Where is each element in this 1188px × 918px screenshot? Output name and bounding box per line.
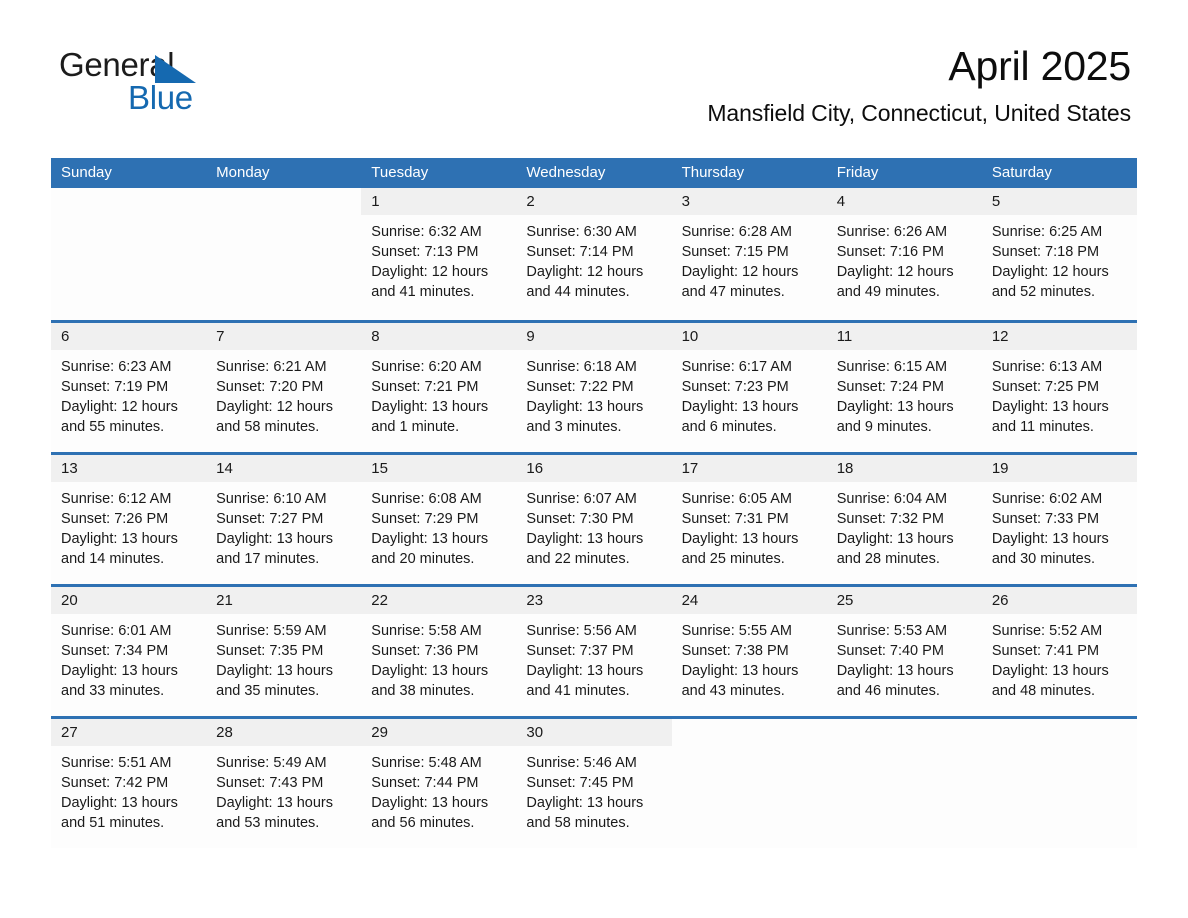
day-details: Sunrise: 6:20 AMSunset: 7:21 PMDaylight:…: [361, 350, 516, 437]
daylight-duration-line2: and 6 minutes.: [682, 417, 817, 437]
daylight-duration-line1: Daylight: 12 hours: [526, 262, 661, 282]
calendar-day-cell[interactable]: 12Sunrise: 6:13 AMSunset: 7:25 PMDayligh…: [982, 323, 1137, 452]
daylight-duration-line1: Daylight: 13 hours: [371, 529, 506, 549]
daylight-duration-line1: Daylight: 12 hours: [61, 397, 196, 417]
daylight-duration-line1: Daylight: 12 hours: [992, 262, 1127, 282]
sunset-time: Sunset: 7:27 PM: [216, 509, 351, 529]
day-number: 7: [206, 323, 361, 350]
daylight-duration-line1: Daylight: 13 hours: [526, 661, 661, 681]
sunset-time: Sunset: 7:38 PM: [682, 641, 817, 661]
calendar-day-cell[interactable]: 20Sunrise: 6:01 AMSunset: 7:34 PMDayligh…: [51, 587, 206, 716]
day-details: Sunrise: 5:51 AMSunset: 7:42 PMDaylight:…: [51, 746, 206, 833]
daylight-duration-line1: Daylight: 12 hours: [682, 262, 817, 282]
sunset-time: Sunset: 7:13 PM: [371, 242, 506, 262]
sunrise-time: Sunrise: 6:13 AM: [992, 357, 1127, 377]
calendar-day-cell[interactable]: 7Sunrise: 6:21 AMSunset: 7:20 PMDaylight…: [206, 323, 361, 452]
calendar-day-cell-empty: [206, 188, 361, 320]
day-details: Sunrise: 5:53 AMSunset: 7:40 PMDaylight:…: [827, 614, 982, 701]
sunset-time: Sunset: 7:18 PM: [992, 242, 1127, 262]
calendar-day-cell[interactable]: 21Sunrise: 5:59 AMSunset: 7:35 PMDayligh…: [206, 587, 361, 716]
sunset-time: Sunset: 7:24 PM: [837, 377, 972, 397]
title-block: April 2025 Mansfield City, Connecticut, …: [707, 45, 1131, 127]
daylight-duration-line2: and 47 minutes.: [682, 282, 817, 302]
calendar-week-row: 20Sunrise: 6:01 AMSunset: 7:34 PMDayligh…: [51, 584, 1137, 716]
sunset-time: Sunset: 7:42 PM: [61, 773, 196, 793]
daylight-duration-line1: Daylight: 12 hours: [371, 262, 506, 282]
calendar-day-cell-empty: [672, 719, 827, 848]
daylight-duration-line2: and 48 minutes.: [992, 681, 1127, 701]
day-details: Sunrise: 6:10 AMSunset: 7:27 PMDaylight:…: [206, 482, 361, 569]
sunrise-time: Sunrise: 6:15 AM: [837, 357, 972, 377]
daylight-duration-line2: and 53 minutes.: [216, 813, 351, 833]
general-blue-logo[interactable]: General Blue: [59, 48, 259, 120]
weekday-header-row: Sunday Monday Tuesday Wednesday Thursday…: [51, 158, 1137, 188]
sunrise-time: Sunrise: 5:49 AM: [216, 753, 351, 773]
calendar-day-cell[interactable]: 28Sunrise: 5:49 AMSunset: 7:43 PMDayligh…: [206, 719, 361, 848]
day-number: 23: [516, 587, 671, 614]
daylight-duration-line1: Daylight: 13 hours: [682, 397, 817, 417]
daylight-duration-line2: and 17 minutes.: [216, 549, 351, 569]
sunrise-time: Sunrise: 5:48 AM: [371, 753, 506, 773]
calendar-day-cell[interactable]: 15Sunrise: 6:08 AMSunset: 7:29 PMDayligh…: [361, 455, 516, 584]
sunset-time: Sunset: 7:22 PM: [526, 377, 661, 397]
calendar-day-cell[interactable]: 23Sunrise: 5:56 AMSunset: 7:37 PMDayligh…: [516, 587, 671, 716]
calendar-day-cell[interactable]: 26Sunrise: 5:52 AMSunset: 7:41 PMDayligh…: [982, 587, 1137, 716]
day-details: Sunrise: 6:23 AMSunset: 7:19 PMDaylight:…: [51, 350, 206, 437]
sunset-time: Sunset: 7:30 PM: [526, 509, 661, 529]
daylight-duration-line2: and 41 minutes.: [371, 282, 506, 302]
sunset-time: Sunset: 7:15 PM: [682, 242, 817, 262]
daylight-duration-line1: Daylight: 13 hours: [371, 793, 506, 813]
daylight-duration-line2: and 43 minutes.: [682, 681, 817, 701]
calendar-day-cell[interactable]: 16Sunrise: 6:07 AMSunset: 7:30 PMDayligh…: [516, 455, 671, 584]
sunset-time: Sunset: 7:25 PM: [992, 377, 1127, 397]
day-number: [51, 188, 206, 215]
sunset-time: Sunset: 7:26 PM: [61, 509, 196, 529]
sunrise-time: Sunrise: 6:01 AM: [61, 621, 196, 641]
daylight-duration-line2: and 49 minutes.: [837, 282, 972, 302]
daylight-duration-line1: Daylight: 13 hours: [992, 397, 1127, 417]
day-number: 21: [206, 587, 361, 614]
sunrise-time: Sunrise: 6:02 AM: [992, 489, 1127, 509]
daylight-duration-line2: and 52 minutes.: [992, 282, 1127, 302]
day-number: 24: [672, 587, 827, 614]
sunset-time: Sunset: 7:20 PM: [216, 377, 351, 397]
sunset-time: Sunset: 7:14 PM: [526, 242, 661, 262]
day-number: 27: [51, 719, 206, 746]
daylight-duration-line1: Daylight: 13 hours: [216, 793, 351, 813]
day-number: 6: [51, 323, 206, 350]
daylight-duration-line1: Daylight: 12 hours: [216, 397, 351, 417]
sunrise-time: Sunrise: 6:20 AM: [371, 357, 506, 377]
calendar-day-cell[interactable]: 11Sunrise: 6:15 AMSunset: 7:24 PMDayligh…: [827, 323, 982, 452]
weekday-header-saturday: Saturday: [982, 158, 1137, 188]
sunrise-time: Sunrise: 6:08 AM: [371, 489, 506, 509]
day-details: Sunrise: 6:02 AMSunset: 7:33 PMDaylight:…: [982, 482, 1137, 569]
calendar-day-cell[interactable]: 9Sunrise: 6:18 AMSunset: 7:22 PMDaylight…: [516, 323, 671, 452]
daylight-duration-line1: Daylight: 13 hours: [837, 529, 972, 549]
day-details: Sunrise: 5:48 AMSunset: 7:44 PMDaylight:…: [361, 746, 516, 833]
day-details: Sunrise: 6:04 AMSunset: 7:32 PMDaylight:…: [827, 482, 982, 569]
sunrise-time: Sunrise: 6:07 AM: [526, 489, 661, 509]
sunrise-time: Sunrise: 6:21 AM: [216, 357, 351, 377]
day-number: [206, 188, 361, 215]
page-title: April 2025: [707, 45, 1131, 88]
day-number: 5: [982, 188, 1137, 215]
calendar-day-cell[interactable]: 6Sunrise: 6:23 AMSunset: 7:19 PMDaylight…: [51, 323, 206, 452]
daylight-duration-line2: and 51 minutes.: [61, 813, 196, 833]
sunrise-time: Sunrise: 6:26 AM: [837, 222, 972, 242]
calendar-day-cell[interactable]: 25Sunrise: 5:53 AMSunset: 7:40 PMDayligh…: [827, 587, 982, 716]
day-number: 11: [827, 323, 982, 350]
day-details: Sunrise: 6:21 AMSunset: 7:20 PMDaylight:…: [206, 350, 361, 437]
day-details: Sunrise: 6:32 AMSunset: 7:13 PMDaylight:…: [361, 215, 516, 302]
weekday-header-thursday: Thursday: [672, 158, 827, 188]
sunset-time: Sunset: 7:33 PM: [992, 509, 1127, 529]
sunset-time: Sunset: 7:35 PM: [216, 641, 351, 661]
daylight-duration-line1: Daylight: 13 hours: [61, 793, 196, 813]
sunrise-time: Sunrise: 5:46 AM: [526, 753, 661, 773]
daylight-duration-line1: Daylight: 13 hours: [526, 529, 661, 549]
day-details: Sunrise: 6:25 AMSunset: 7:18 PMDaylight:…: [982, 215, 1137, 302]
page-header: General Blue April 2025 Mansfield City, …: [0, 0, 1188, 118]
sunrise-time: Sunrise: 5:58 AM: [371, 621, 506, 641]
sunrise-time: Sunrise: 6:23 AM: [61, 357, 196, 377]
sunrise-time: Sunrise: 6:18 AM: [526, 357, 661, 377]
sunrise-time: Sunrise: 6:10 AM: [216, 489, 351, 509]
sunrise-time: Sunrise: 5:59 AM: [216, 621, 351, 641]
day-number: [827, 719, 982, 746]
sunset-time: Sunset: 7:34 PM: [61, 641, 196, 661]
calendar-day-cell-empty: [51, 188, 206, 320]
day-number: 26: [982, 587, 1137, 614]
day-details: Sunrise: 5:58 AMSunset: 7:36 PMDaylight:…: [361, 614, 516, 701]
calendar-day-cell[interactable]: 3Sunrise: 6:28 AMSunset: 7:15 PMDaylight…: [672, 188, 827, 320]
calendar-day-cell[interactable]: 27Sunrise: 5:51 AMSunset: 7:42 PMDayligh…: [51, 719, 206, 848]
daylight-duration-line1: Daylight: 13 hours: [61, 529, 196, 549]
weekday-header-sunday: Sunday: [51, 158, 206, 188]
day-details: Sunrise: 6:28 AMSunset: 7:15 PMDaylight:…: [672, 215, 827, 302]
day-number: 9: [516, 323, 671, 350]
day-number: 17: [672, 455, 827, 482]
daylight-duration-line1: Daylight: 13 hours: [371, 661, 506, 681]
day-number: 29: [361, 719, 516, 746]
day-details: Sunrise: 5:59 AMSunset: 7:35 PMDaylight:…: [206, 614, 361, 701]
daylight-duration-line1: Daylight: 12 hours: [837, 262, 972, 282]
daylight-duration-line1: Daylight: 13 hours: [682, 529, 817, 549]
calendar-day-cell[interactable]: 13Sunrise: 6:12 AMSunset: 7:26 PMDayligh…: [51, 455, 206, 584]
daylight-duration-line1: Daylight: 13 hours: [992, 661, 1127, 681]
daylight-duration-line2: and 58 minutes.: [216, 417, 351, 437]
calendar-day-cell[interactable]: 30Sunrise: 5:46 AMSunset: 7:45 PMDayligh…: [516, 719, 671, 848]
sunrise-time: Sunrise: 6:28 AM: [682, 222, 817, 242]
daylight-duration-line1: Daylight: 13 hours: [371, 397, 506, 417]
day-number: 15: [361, 455, 516, 482]
day-number: 1: [361, 188, 516, 215]
sunset-time: Sunset: 7:44 PM: [371, 773, 506, 793]
calendar-day-cell[interactable]: 1Sunrise: 6:32 AMSunset: 7:13 PMDaylight…: [361, 188, 516, 320]
sunset-time: Sunset: 7:31 PM: [682, 509, 817, 529]
daylight-duration-line2: and 58 minutes.: [526, 813, 661, 833]
day-details: Sunrise: 6:15 AMSunset: 7:24 PMDaylight:…: [827, 350, 982, 437]
sunrise-time: Sunrise: 6:30 AM: [526, 222, 661, 242]
weekday-header-friday: Friday: [827, 158, 982, 188]
sunrise-time: Sunrise: 5:53 AM: [837, 621, 972, 641]
daylight-duration-line2: and 56 minutes.: [371, 813, 506, 833]
sunset-time: Sunset: 7:19 PM: [61, 377, 196, 397]
daylight-duration-line2: and 1 minute.: [371, 417, 506, 437]
calendar-day-cell-empty: [827, 719, 982, 848]
sunrise-time: Sunrise: 5:52 AM: [992, 621, 1127, 641]
day-details: Sunrise: 6:12 AMSunset: 7:26 PMDaylight:…: [51, 482, 206, 569]
sunrise-time: Sunrise: 6:17 AM: [682, 357, 817, 377]
calendar-day-cell[interactable]: 22Sunrise: 5:58 AMSunset: 7:36 PMDayligh…: [361, 587, 516, 716]
day-number: 22: [361, 587, 516, 614]
calendar-day-cell[interactable]: 8Sunrise: 6:20 AMSunset: 7:21 PMDaylight…: [361, 323, 516, 452]
daylight-duration-line2: and 41 minutes.: [526, 681, 661, 701]
sunset-time: Sunset: 7:21 PM: [371, 377, 506, 397]
daylight-duration-line2: and 22 minutes.: [526, 549, 661, 569]
weekday-header-wednesday: Wednesday: [516, 158, 671, 188]
calendar-day-cell[interactable]: 10Sunrise: 6:17 AMSunset: 7:23 PMDayligh…: [672, 323, 827, 452]
day-number: 13: [51, 455, 206, 482]
daylight-duration-line1: Daylight: 13 hours: [992, 529, 1127, 549]
daylight-duration-line2: and 28 minutes.: [837, 549, 972, 569]
day-number: 25: [827, 587, 982, 614]
calendar-day-cell[interactable]: 14Sunrise: 6:10 AMSunset: 7:27 PMDayligh…: [206, 455, 361, 584]
sunrise-time: Sunrise: 6:05 AM: [682, 489, 817, 509]
day-details: Sunrise: 6:08 AMSunset: 7:29 PMDaylight:…: [361, 482, 516, 569]
day-number: 20: [51, 587, 206, 614]
day-number: 14: [206, 455, 361, 482]
sunrise-time: Sunrise: 5:56 AM: [526, 621, 661, 641]
day-details: Sunrise: 6:05 AMSunset: 7:31 PMDaylight:…: [672, 482, 827, 569]
daylight-duration-line2: and 44 minutes.: [526, 282, 661, 302]
daylight-duration-line2: and 9 minutes.: [837, 417, 972, 437]
daylight-duration-line2: and 33 minutes.: [61, 681, 196, 701]
day-details: Sunrise: 5:49 AMSunset: 7:43 PMDaylight:…: [206, 746, 361, 833]
day-number: 18: [827, 455, 982, 482]
sunrise-time: Sunrise: 6:25 AM: [992, 222, 1127, 242]
sunrise-time: Sunrise: 6:32 AM: [371, 222, 506, 242]
sunrise-time: Sunrise: 6:04 AM: [837, 489, 972, 509]
daylight-duration-line1: Daylight: 13 hours: [837, 661, 972, 681]
day-number: 12: [982, 323, 1137, 350]
sunset-time: Sunset: 7:41 PM: [992, 641, 1127, 661]
calendar-day-cell[interactable]: 19Sunrise: 6:02 AMSunset: 7:33 PMDayligh…: [982, 455, 1137, 584]
daylight-duration-line2: and 11 minutes.: [992, 417, 1127, 437]
sunset-time: Sunset: 7:43 PM: [216, 773, 351, 793]
logo-text-blue: Blue: [128, 81, 193, 114]
calendar-day-cell[interactable]: 29Sunrise: 5:48 AMSunset: 7:44 PMDayligh…: [361, 719, 516, 848]
sunset-time: Sunset: 7:23 PM: [682, 377, 817, 397]
daylight-duration-line2: and 30 minutes.: [992, 549, 1127, 569]
day-number: [672, 719, 827, 746]
day-details: Sunrise: 5:56 AMSunset: 7:37 PMDaylight:…: [516, 614, 671, 701]
day-details: Sunrise: 6:07 AMSunset: 7:30 PMDaylight:…: [516, 482, 671, 569]
daylight-duration-line2: and 14 minutes.: [61, 549, 196, 569]
daylight-duration-line1: Daylight: 13 hours: [216, 661, 351, 681]
day-number: 8: [361, 323, 516, 350]
day-number: 30: [516, 719, 671, 746]
calendar-week-row: 6Sunrise: 6:23 AMSunset: 7:19 PMDaylight…: [51, 320, 1137, 452]
daylight-duration-line1: Daylight: 13 hours: [526, 793, 661, 813]
day-details: Sunrise: 6:17 AMSunset: 7:23 PMDaylight:…: [672, 350, 827, 437]
calendar-day-cell[interactable]: 18Sunrise: 6:04 AMSunset: 7:32 PMDayligh…: [827, 455, 982, 584]
daylight-duration-line1: Daylight: 13 hours: [216, 529, 351, 549]
sunset-time: Sunset: 7:36 PM: [371, 641, 506, 661]
sunset-time: Sunset: 7:29 PM: [371, 509, 506, 529]
sunset-time: Sunset: 7:45 PM: [526, 773, 661, 793]
calendar-week-row: 13Sunrise: 6:12 AMSunset: 7:26 PMDayligh…: [51, 452, 1137, 584]
daylight-duration-line1: Daylight: 13 hours: [837, 397, 972, 417]
day-details: Sunrise: 6:26 AMSunset: 7:16 PMDaylight:…: [827, 215, 982, 302]
calendar-day-cell[interactable]: 24Sunrise: 5:55 AMSunset: 7:38 PMDayligh…: [672, 587, 827, 716]
day-details: Sunrise: 5:52 AMSunset: 7:41 PMDaylight:…: [982, 614, 1137, 701]
day-number: 19: [982, 455, 1137, 482]
calendar-day-cell[interactable]: 4Sunrise: 6:26 AMSunset: 7:16 PMDaylight…: [827, 188, 982, 320]
daylight-duration-line1: Daylight: 13 hours: [526, 397, 661, 417]
sunset-time: Sunset: 7:16 PM: [837, 242, 972, 262]
day-details: Sunrise: 6:13 AMSunset: 7:25 PMDaylight:…: [982, 350, 1137, 437]
day-details: Sunrise: 6:01 AMSunset: 7:34 PMDaylight:…: [51, 614, 206, 701]
daylight-duration-line2: and 55 minutes.: [61, 417, 196, 437]
calendar-day-cell-empty: [982, 719, 1137, 848]
calendar-week-row: 27Sunrise: 5:51 AMSunset: 7:42 PMDayligh…: [51, 716, 1137, 848]
sunrise-time: Sunrise: 5:55 AM: [682, 621, 817, 641]
daylight-duration-line2: and 25 minutes.: [682, 549, 817, 569]
day-number: 4: [827, 188, 982, 215]
sunset-time: Sunset: 7:37 PM: [526, 641, 661, 661]
day-number: 3: [672, 188, 827, 215]
daylight-duration-line2: and 3 minutes.: [526, 417, 661, 437]
weekday-header-monday: Monday: [206, 158, 361, 188]
day-number: [982, 719, 1137, 746]
daylight-duration-line2: and 20 minutes.: [371, 549, 506, 569]
day-number: 28: [206, 719, 361, 746]
sunset-time: Sunset: 7:40 PM: [837, 641, 972, 661]
sunrise-time: Sunrise: 6:12 AM: [61, 489, 196, 509]
daylight-duration-line2: and 35 minutes.: [216, 681, 351, 701]
weekday-header-tuesday: Tuesday: [361, 158, 516, 188]
calendar-day-cell[interactable]: 17Sunrise: 6:05 AMSunset: 7:31 PMDayligh…: [672, 455, 827, 584]
day-details: Sunrise: 5:55 AMSunset: 7:38 PMDaylight:…: [672, 614, 827, 701]
page-subtitle: Mansfield City, Connecticut, United Stat…: [707, 100, 1131, 127]
day-number: 2: [516, 188, 671, 215]
daylight-duration-line2: and 38 minutes.: [371, 681, 506, 701]
daylight-duration-line2: and 46 minutes.: [837, 681, 972, 701]
day-number: 16: [516, 455, 671, 482]
day-details: Sunrise: 6:18 AMSunset: 7:22 PMDaylight:…: [516, 350, 671, 437]
calendar-day-cell[interactable]: 2Sunrise: 6:30 AMSunset: 7:14 PMDaylight…: [516, 188, 671, 320]
day-number: 10: [672, 323, 827, 350]
daylight-duration-line1: Daylight: 13 hours: [61, 661, 196, 681]
sunrise-time: Sunrise: 5:51 AM: [61, 753, 196, 773]
sunset-time: Sunset: 7:32 PM: [837, 509, 972, 529]
day-details: Sunrise: 6:30 AMSunset: 7:14 PMDaylight:…: [516, 215, 671, 302]
calendar-grid: Sunday Monday Tuesday Wednesday Thursday…: [51, 158, 1137, 848]
daylight-duration-line1: Daylight: 13 hours: [682, 661, 817, 681]
calendar-day-cell[interactable]: 5Sunrise: 6:25 AMSunset: 7:18 PMDaylight…: [982, 188, 1137, 320]
calendar-week-row: 1Sunrise: 6:32 AMSunset: 7:13 PMDaylight…: [51, 188, 1137, 320]
day-details: Sunrise: 5:46 AMSunset: 7:45 PMDaylight:…: [516, 746, 671, 833]
